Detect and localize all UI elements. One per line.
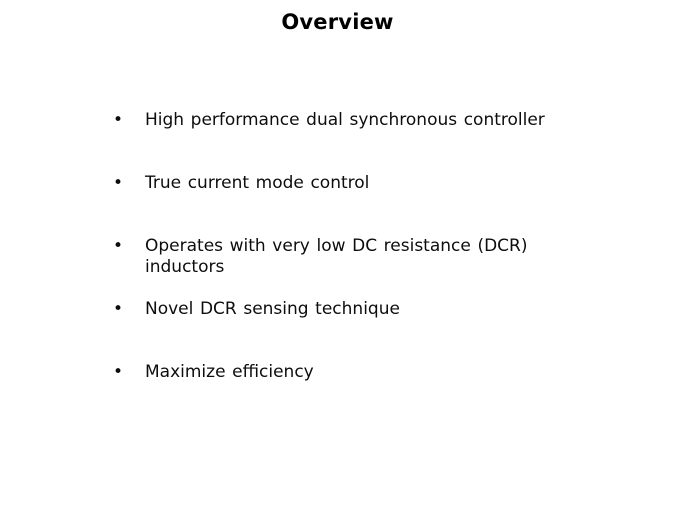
page-title: Overview bbox=[0, 9, 675, 35]
list-item: • Novel DCR sensing technique bbox=[108, 299, 578, 362]
list-item: • High performance dual synchronous cont… bbox=[108, 110, 578, 173]
bullet-item-label: True current mode control bbox=[145, 173, 578, 194]
bullet-point-icon: • bbox=[113, 299, 123, 320]
bullet-item-label: Maximize efficiency bbox=[145, 362, 578, 383]
bullet-point-icon: • bbox=[113, 173, 123, 194]
bullet-item-label: High performance dual synchronous contro… bbox=[145, 110, 578, 131]
bullet-point-icon: • bbox=[113, 236, 123, 257]
bullet-item-label: Novel DCR sensing technique bbox=[145, 299, 578, 320]
bullet-list: • High performance dual synchronous cont… bbox=[108, 110, 578, 425]
list-item: • Operates with very low DC resistance (… bbox=[108, 236, 578, 299]
bullet-item-label: Operates with very low DC resistance (DC… bbox=[145, 236, 578, 278]
list-item: • True current mode control bbox=[108, 173, 578, 236]
bullet-point-icon: • bbox=[113, 362, 123, 383]
list-item: • Maximize efficiency bbox=[108, 362, 578, 425]
bullet-point-icon: • bbox=[113, 110, 123, 131]
slide-canvas: Overview • High performance dual synchro… bbox=[0, 0, 675, 506]
